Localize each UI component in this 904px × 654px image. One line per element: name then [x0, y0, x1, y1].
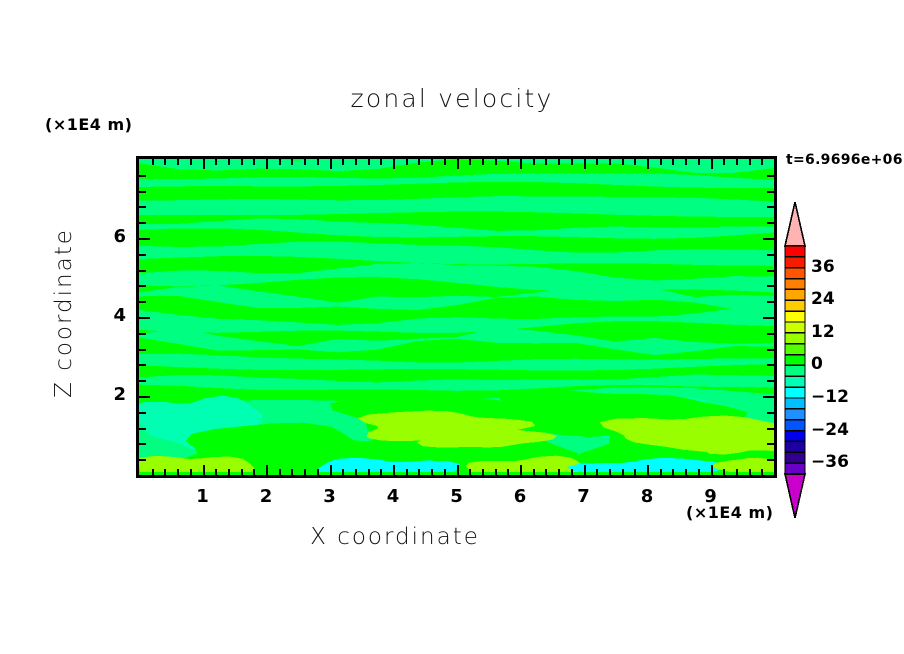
x-tick-label: 4 [378, 486, 408, 507]
colorbar-band [785, 333, 805, 344]
x-minor-tick [444, 159, 446, 165]
x-minor-tick [723, 469, 725, 475]
colorbar-band [785, 409, 805, 420]
x-minor-tick [609, 159, 611, 165]
colorbar[interactable]: 3624120−12−24−36 [781, 200, 901, 520]
y-minor-tick [139, 254, 146, 256]
y-major-tick [763, 396, 774, 398]
x-minor-tick [596, 159, 598, 165]
y-minor-tick [139, 222, 146, 224]
colorbar-band [785, 441, 805, 452]
x-minor-tick [622, 469, 624, 475]
x-minor-tick [685, 469, 687, 475]
x-minor-tick [241, 469, 243, 475]
x-minor-tick [215, 159, 217, 165]
x-minor-tick [736, 469, 738, 475]
x-minor-tick [253, 159, 255, 165]
x-minor-tick [228, 159, 230, 165]
x-minor-tick [190, 159, 192, 165]
colorbar-band [785, 289, 805, 300]
y-minor-tick [767, 301, 774, 303]
x-minor-tick [164, 469, 166, 475]
x-minor-tick [228, 469, 230, 475]
y-minor-tick [139, 380, 146, 382]
x-major-tick [647, 159, 649, 169]
x-tick-label: 1 [188, 486, 218, 507]
x-minor-tick [355, 469, 357, 475]
y-minor-tick [767, 175, 774, 177]
x-minor-tick [558, 469, 560, 475]
colorbar-band [785, 387, 805, 398]
y-minor-tick [139, 333, 146, 335]
y-major-tick [139, 317, 150, 319]
x-tick-label: 5 [442, 486, 472, 507]
y-minor-tick [767, 459, 774, 461]
x-major-tick [203, 159, 205, 169]
colorbar-band [785, 431, 805, 442]
x-minor-tick [368, 159, 370, 165]
x-minor-tick [164, 159, 166, 165]
x-minor-tick [545, 469, 547, 475]
x-major-tick [520, 465, 522, 475]
x-minor-tick [431, 469, 433, 475]
y-minor-tick [767, 428, 774, 430]
x-major-tick [393, 465, 395, 475]
time-annotation: t=6.9696e+06 [786, 152, 903, 168]
colorbar-band [785, 300, 805, 311]
x-minor-tick [190, 469, 192, 475]
x-major-tick [520, 159, 522, 169]
x-minor-tick [507, 469, 509, 475]
x-minor-tick [698, 159, 700, 165]
y-major-tick [139, 396, 150, 398]
y-major-tick [763, 317, 774, 319]
x-minor-tick [241, 159, 243, 165]
x-minor-tick [723, 159, 725, 165]
colorbar-band [785, 398, 805, 409]
colorbar-top-arrow [785, 202, 805, 246]
colorbar-bottom-arrow [785, 474, 805, 518]
colorbar-band [785, 322, 805, 333]
x-minor-tick [406, 469, 408, 475]
y-minor-tick [139, 412, 146, 414]
colorbar-band [785, 344, 805, 355]
x-minor-tick [444, 469, 446, 475]
x-minor-tick [279, 159, 281, 165]
x-minor-tick [609, 469, 611, 475]
x-minor-tick [469, 159, 471, 165]
y-minor-tick [767, 270, 774, 272]
x-minor-tick [507, 159, 509, 165]
x-major-tick [330, 159, 332, 169]
y-minor-tick [139, 191, 146, 193]
y-major-tick [139, 238, 150, 240]
colorbar-band [785, 268, 805, 279]
colorbar-tick-label: 24 [811, 289, 835, 309]
x-minor-tick [533, 469, 535, 475]
y-minor-tick [767, 254, 774, 256]
y-minor-tick [139, 364, 146, 366]
y-minor-tick [767, 222, 774, 224]
x-major-tick [266, 465, 268, 475]
x-major-tick [266, 159, 268, 169]
colorbar-band [785, 355, 805, 366]
x-minor-tick [634, 469, 636, 475]
x-minor-tick [253, 469, 255, 475]
x-minor-tick [279, 469, 281, 475]
x-major-tick [584, 465, 586, 475]
x-minor-tick [177, 469, 179, 475]
x-minor-tick [571, 469, 573, 475]
y-minor-tick [767, 364, 774, 366]
x-minor-tick [177, 159, 179, 165]
x-major-tick [711, 159, 713, 169]
x-minor-tick [736, 159, 738, 165]
y-minor-tick [139, 301, 146, 303]
x-minor-tick [368, 469, 370, 475]
y-minor-tick [139, 270, 146, 272]
colorbar-tick-label: 12 [811, 322, 835, 342]
x-minor-tick [380, 159, 382, 165]
colorbar-band [785, 420, 805, 431]
x-major-tick [393, 159, 395, 169]
x-minor-tick [482, 159, 484, 165]
x-minor-tick [660, 159, 662, 165]
x-minor-tick [380, 469, 382, 475]
y-tick-label: 2 [100, 384, 126, 405]
x-minor-tick [698, 469, 700, 475]
x-minor-tick [215, 469, 217, 475]
x-tick-label: 2 [251, 486, 281, 507]
contour-plot-area[interactable] [136, 156, 777, 478]
x-major-tick [457, 159, 459, 169]
y-tick-label: 4 [100, 305, 126, 326]
x-minor-tick [596, 469, 598, 475]
colorbar-band [785, 257, 805, 268]
y-minor-tick [767, 443, 774, 445]
y-minor-tick [767, 412, 774, 414]
x-minor-tick [495, 469, 497, 475]
x-minor-tick [558, 159, 560, 165]
y-minor-tick [767, 333, 774, 335]
colorbar-band [785, 311, 805, 322]
y-minor-tick [139, 349, 146, 351]
y-minor-tick [767, 285, 774, 287]
x-minor-tick [304, 159, 306, 165]
y-minor-tick [139, 175, 146, 177]
y-minor-tick [139, 428, 146, 430]
colorbar-band [785, 279, 805, 290]
x-minor-tick [545, 159, 547, 165]
y-minor-tick [139, 206, 146, 208]
y-axis-unit-label: (×1E4 m) [45, 115, 132, 134]
x-minor-tick [406, 159, 408, 165]
x-tick-label: 7 [569, 486, 599, 507]
x-minor-tick [571, 159, 573, 165]
x-minor-tick [672, 469, 674, 475]
y-minor-tick [767, 380, 774, 382]
x-minor-tick [749, 469, 751, 475]
x-tick-label: 8 [632, 486, 662, 507]
x-tick-label: 3 [315, 486, 345, 507]
x-minor-tick [291, 159, 293, 165]
contour-field [139, 159, 774, 475]
x-minor-tick [622, 159, 624, 165]
y-minor-tick [139, 459, 146, 461]
colorbar-tick-label: −24 [811, 420, 849, 440]
x-minor-tick [749, 159, 751, 165]
colorbar-tick-label: 0 [811, 354, 823, 374]
x-minor-tick [342, 469, 344, 475]
y-major-tick [763, 238, 774, 240]
y-minor-tick [767, 206, 774, 208]
x-minor-tick [431, 159, 433, 165]
x-major-tick [457, 465, 459, 475]
y-minor-tick [139, 285, 146, 287]
x-minor-tick [418, 159, 420, 165]
x-minor-tick [469, 469, 471, 475]
x-minor-tick [342, 159, 344, 165]
x-minor-tick [291, 469, 293, 475]
y-minor-tick [139, 443, 146, 445]
x-minor-tick [355, 159, 357, 165]
x-minor-tick [482, 469, 484, 475]
colorbar-band [785, 452, 805, 463]
x-minor-tick [761, 159, 763, 165]
x-tick-label: 6 [505, 486, 535, 507]
x-minor-tick [634, 159, 636, 165]
x-major-tick [647, 465, 649, 475]
y-tick-label: 6 [100, 226, 126, 247]
colorbar-tick-label: 36 [811, 257, 835, 277]
colorbar-band [785, 365, 805, 376]
colorbar-band [785, 246, 805, 257]
x-major-tick [711, 465, 713, 475]
x-major-tick [203, 465, 205, 475]
x-minor-tick [418, 469, 420, 475]
colorbar-band [785, 376, 805, 387]
x-minor-tick [152, 159, 154, 165]
x-minor-tick [317, 469, 319, 475]
x-minor-tick [660, 469, 662, 475]
x-minor-tick [761, 469, 763, 475]
y-minor-tick [767, 349, 774, 351]
colorbar-band [785, 463, 805, 474]
x-axis-title: X coordinate [0, 524, 790, 550]
x-minor-tick [317, 159, 319, 165]
x-minor-tick [672, 159, 674, 165]
x-major-tick [584, 159, 586, 169]
colorbar-tick-label: −36 [811, 452, 849, 472]
x-tick-label: 9 [696, 486, 726, 507]
x-minor-tick [304, 469, 306, 475]
x-major-tick [330, 465, 332, 475]
x-minor-tick [152, 469, 154, 475]
page-title: zonal velocity [0, 84, 904, 113]
y-minor-tick [767, 191, 774, 193]
x-minor-tick [533, 159, 535, 165]
y-axis-title: Z coordinate [51, 213, 77, 413]
colorbar-tick-label: −12 [811, 387, 849, 407]
x-minor-tick [495, 159, 497, 165]
x-minor-tick [685, 159, 687, 165]
